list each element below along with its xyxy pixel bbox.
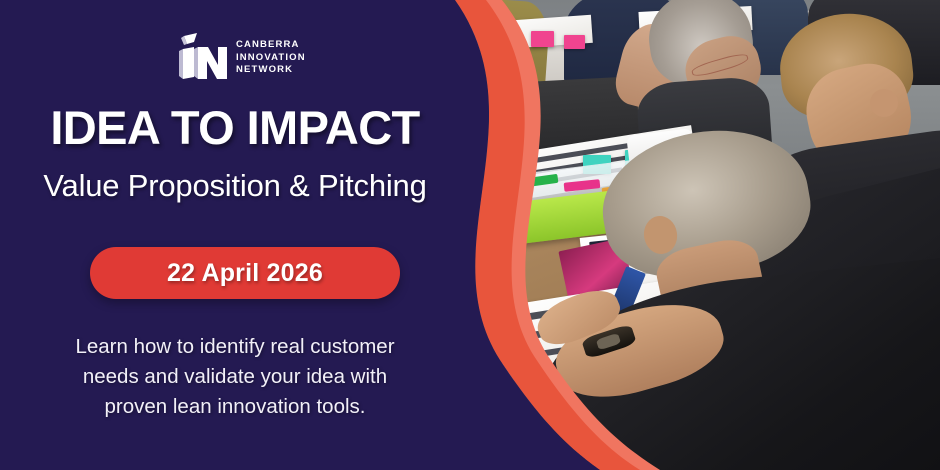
- logo-wordmark: CANBERRA INNOVATION NETWORK: [236, 39, 306, 77]
- description-line-3: proven lean innovation tools.: [35, 392, 435, 422]
- event-promo-banner: CANBERRA INNOVATION NETWORK IDEA TO IMPA…: [0, 0, 940, 470]
- banner-content: CANBERRA INNOVATION NETWORK IDEA TO IMPA…: [0, 0, 470, 470]
- page-title: IDEA TO IMPACT: [0, 100, 470, 155]
- description: Learn how to identify real customer need…: [35, 332, 435, 422]
- date-badge-label: 22 April 2026: [167, 259, 323, 288]
- sticky-note: [531, 31, 554, 47]
- description-line-1: Learn how to identify real customer: [35, 332, 435, 362]
- date-badge: 22 April 2026: [90, 247, 400, 299]
- logo-line-3: NETWORK: [236, 64, 306, 77]
- subtitle: Value Proposition & Pitching: [0, 168, 470, 204]
- description-line-2: needs and validate your idea with: [35, 362, 435, 392]
- logo-line-2: INNOVATION: [236, 52, 306, 65]
- cin-logo: CANBERRA INNOVATION NETWORK: [175, 33, 306, 83]
- sticky-note: [564, 35, 585, 49]
- in-monogram-icon: [175, 33, 227, 83]
- logo-line-1: CANBERRA: [236, 39, 306, 52]
